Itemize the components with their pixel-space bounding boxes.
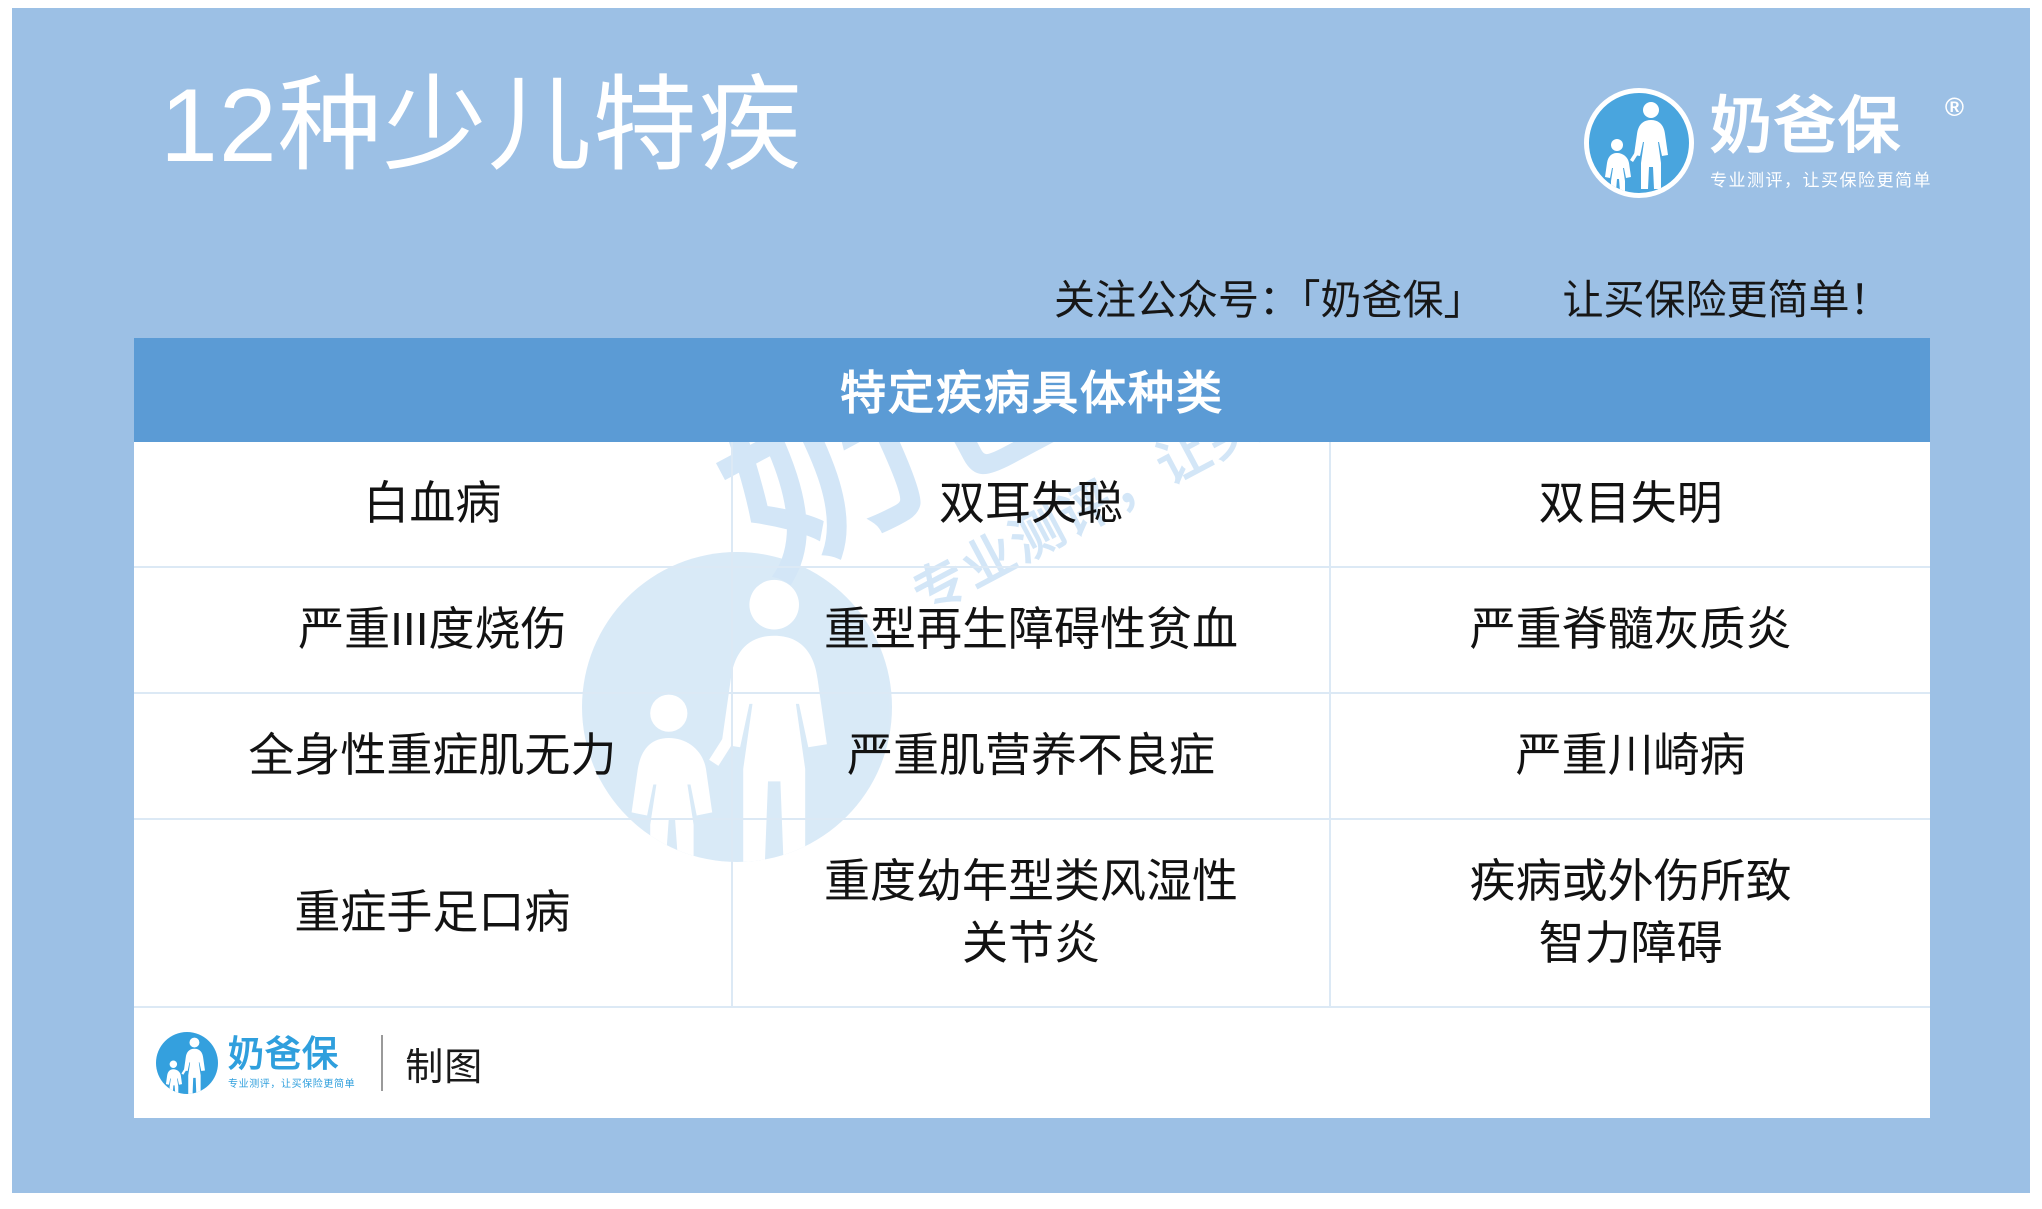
brand-name-top: 奶爸保 ®	[1710, 96, 1932, 158]
table-cell: 严重III度烧伤	[134, 568, 733, 692]
table-cell: 重症手足口病	[134, 820, 733, 1006]
adult-and-child-silhouette-icon	[1584, 88, 1694, 198]
slogan-text: 让买保险更简单！	[1563, 277, 1891, 323]
table-footer: 奶爸保 专业测评，让买保险更简单 制图	[134, 1008, 1930, 1118]
table-cell: 双目失明	[1331, 442, 1930, 566]
table-cell: 疾病或外伤所致智力障碍	[1331, 820, 1930, 1006]
table-cell: 严重脊髓灰质炎	[1331, 568, 1930, 692]
footer-credit-label: 制图	[405, 1036, 483, 1091]
disease-table: 奶爸保 ® 专业测评，让买保险更简单 特定疾病具体种类 白血病 双耳失聪 双目失…	[134, 338, 1930, 1118]
table-cell: 严重川崎病	[1331, 694, 1930, 818]
footer-divider	[381, 1035, 383, 1091]
table-cell: 重型再生障碍性贫血	[733, 568, 1332, 692]
table-header-label: 特定疾病具体种类	[840, 357, 1224, 423]
follow-account-text: 关注公众号：「奶爸保」	[1054, 277, 1485, 323]
registered-mark-icon: ®	[1945, 94, 1966, 120]
page-title: 12种少儿特疾	[160, 70, 803, 182]
table-row: 严重III度烧伤 重型再生障碍性贫血 严重脊髓灰质炎	[134, 568, 1930, 694]
brand-logo-footer: 奶爸保 专业测评，让买保险更简单	[156, 1032, 355, 1094]
brand-name-footer: 奶爸保	[228, 1036, 355, 1072]
brand-tagline-footer: 专业测评，让买保险更简单	[228, 1075, 355, 1090]
table-cell: 双耳失聪	[733, 442, 1332, 566]
subtitle-line: 关注公众号：「奶爸保」让买保险更简单！	[1054, 266, 1891, 326]
adult-and-child-silhouette-icon	[156, 1032, 218, 1094]
slide-canvas: 12种少儿特疾 奶爸保 ® 专业测评，让买保险更简单 关注公众号：「奶爸	[12, 8, 2030, 1193]
brand-tagline-top: 专业测评，让买保险更简单	[1710, 166, 1932, 191]
table-row: 白血病 双耳失聪 双目失明	[134, 442, 1930, 568]
table-cell: 严重肌营养不良症	[733, 694, 1332, 818]
table-cell: 重度幼年型类风湿性关节炎	[733, 820, 1332, 1006]
brand-logo-top: 奶爸保 ® 专业测评，让买保险更简单	[1584, 84, 1934, 202]
table-header: 特定疾病具体种类	[134, 338, 1930, 442]
table-cell: 全身性重症肌无力	[134, 694, 733, 818]
table-cell: 白血病	[134, 442, 733, 566]
table-row: 全身性重症肌无力 严重肌营养不良症 严重川崎病	[134, 694, 1930, 820]
table-row: 重症手足口病 重度幼年型类风湿性关节炎 疾病或外伤所致智力障碍	[134, 820, 1930, 1008]
brand-name-text: 奶爸保	[1710, 92, 1902, 161]
